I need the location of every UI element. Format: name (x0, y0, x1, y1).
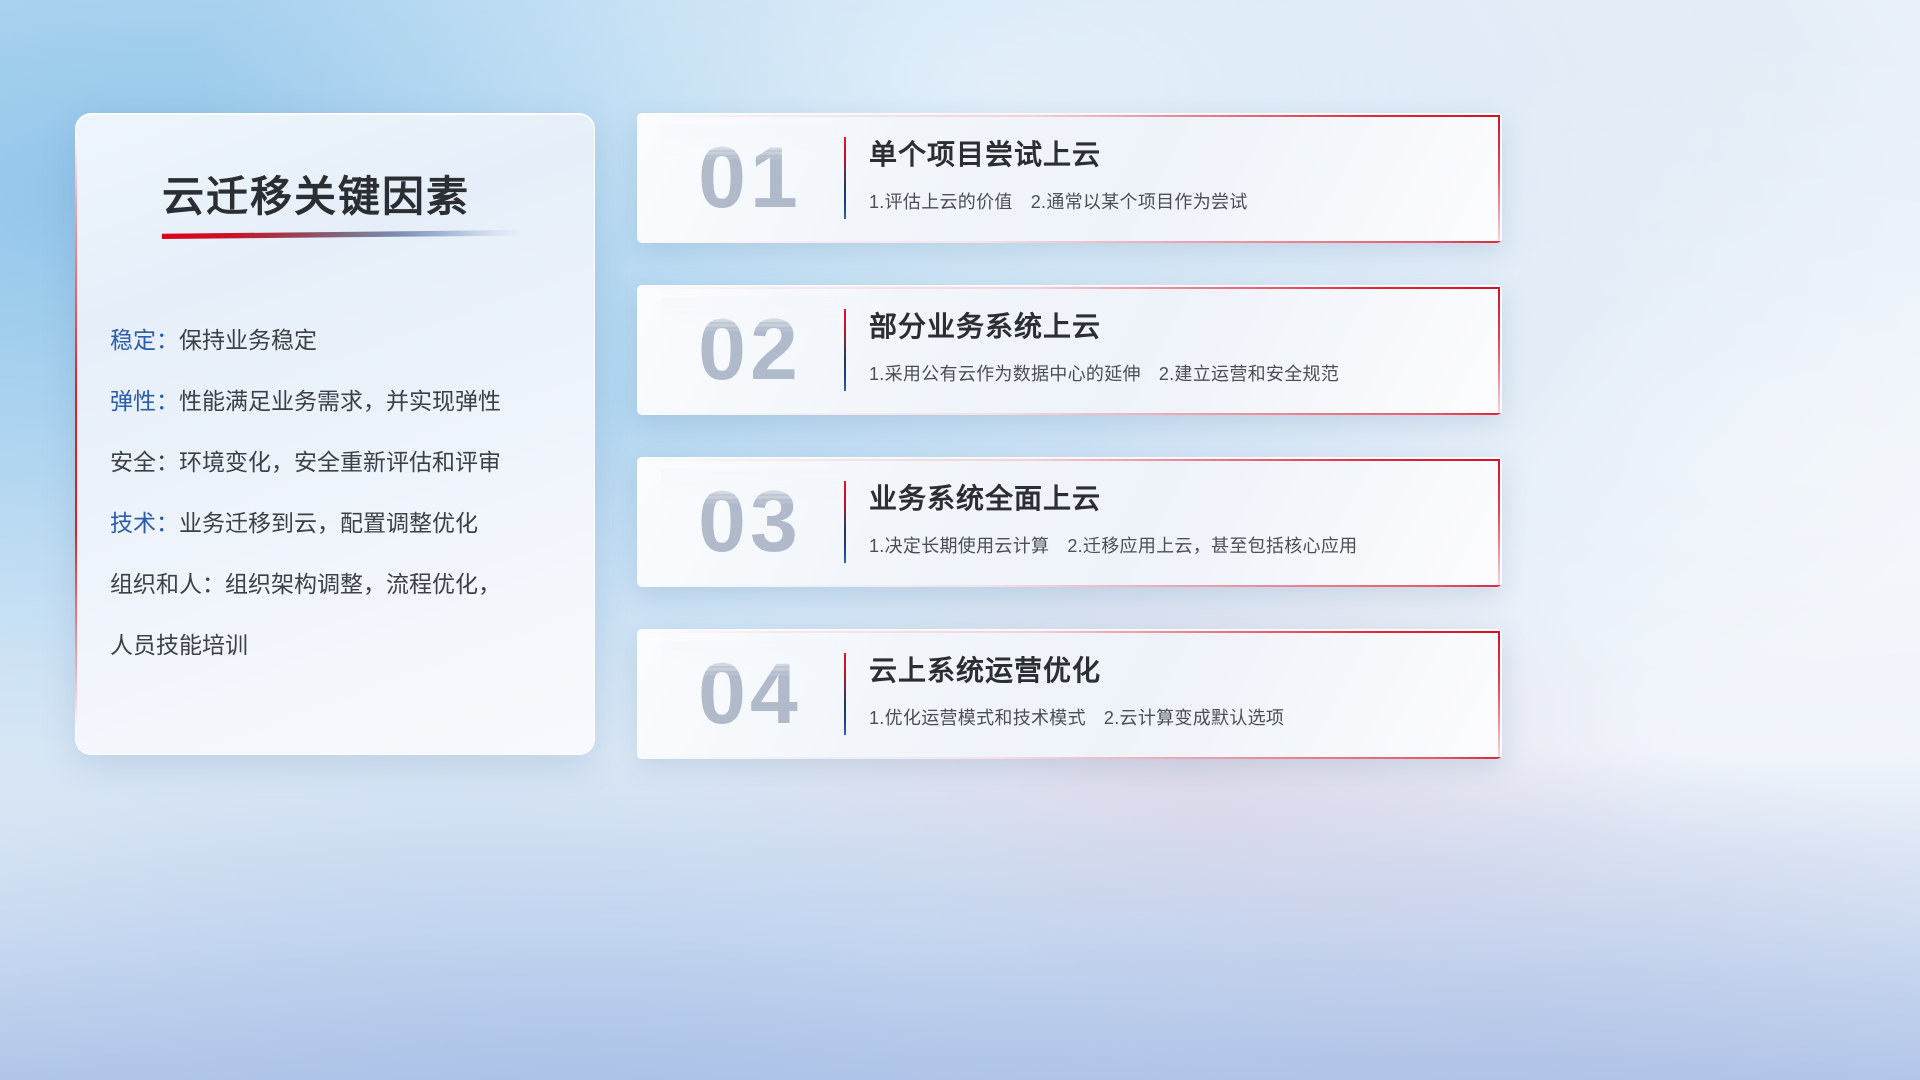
stage-card[interactable]: 03 业务系统全面上云 1.决定长期使用云计算2.迁移应用上云，甚至包括核心应用 (637, 457, 1502, 587)
stage-desc-item: 2.建立运营和安全规范 (1159, 364, 1339, 384)
title-underline-rule (162, 230, 522, 239)
stage-divider-bar (844, 137, 846, 219)
factor-value: 环境变化，安全重新评估和评审 (179, 449, 501, 475)
stage-title: 业务系统全面上云 (869, 477, 1101, 517)
stage-desc-item: 2.通常以某个项目作为尝试 (1031, 192, 1248, 212)
stage-number: 02 (661, 297, 839, 403)
factor-value: 保持业务稳定 (179, 327, 317, 353)
stage-desc-item: 1.评估上云的价值 (869, 192, 1013, 212)
stage-number: 01 (661, 125, 839, 231)
key-factors-list: 稳定：保持业务稳定 弹性：性能满足业务需求，并实现弹性 安全：环境变化，安全重新… (110, 310, 570, 676)
factor-key: 技术： (110, 510, 179, 536)
stage-card[interactable]: 01 单个项目尝试上云 1.评估上云的价值2.通常以某个项目作为尝试 (637, 113, 1502, 243)
stage-desc-item: 2.迁移应用上云，甚至包括核心应用 (1067, 536, 1357, 556)
list-item: 安全：环境变化，安全重新评估和评审 (110, 432, 570, 493)
stage-title: 单个项目尝试上云 (869, 133, 1101, 173)
stage-desc-item: 1.采用公有云作为数据中心的延伸 (869, 364, 1141, 384)
stage-title: 云上系统运营优化 (869, 649, 1101, 689)
slide-canvas: 云迁移关键因素 稳定：保持业务稳定 弹性：性能满足业务需求，并实现弹性 安全：环… (0, 0, 1920, 1080)
factor-value: 性能满足业务需求，并实现弹性 (179, 388, 501, 414)
factor-value: 组织架构调整，流程优化， (225, 571, 501, 597)
page-title: 云迁移关键因素 (162, 163, 470, 224)
stage-description: 1.决定长期使用云计算2.迁移应用上云，甚至包括核心应用 (869, 532, 1357, 558)
stage-description: 1.采用公有云作为数据中心的延伸2.建立运营和安全规范 (869, 360, 1339, 386)
stage-divider-bar (844, 309, 846, 391)
stage-number: 04 (661, 641, 839, 747)
stage-desc-item: 2.云计算变成默认选项 (1104, 708, 1284, 728)
list-item: 人员技能培训 (110, 615, 570, 676)
list-item: 技术：业务迁移到云，配置调整优化 (110, 493, 570, 554)
factor-key: 安全： (110, 449, 179, 475)
stage-card[interactable]: 04 云上系统运营优化 1.优化运营模式和技术模式2.云计算变成默认选项 (637, 629, 1502, 759)
stage-card[interactable]: 02 部分业务系统上云 1.采用公有云作为数据中心的延伸2.建立运营和安全规范 (637, 285, 1502, 415)
stage-description: 1.优化运营模式和技术模式2.云计算变成默认选项 (869, 704, 1284, 730)
list-item: 弹性：性能满足业务需求，并实现弹性 (110, 371, 570, 432)
stage-desc-item: 1.优化运营模式和技术模式 (869, 708, 1086, 728)
stage-number: 03 (661, 469, 839, 575)
migration-stage-cards: 01 单个项目尝试上云 1.评估上云的价值2.通常以某个项目作为尝试 02 部分… (637, 113, 1502, 801)
stage-divider-bar (844, 481, 846, 563)
factor-value: 人员技能培训 (110, 632, 248, 658)
stage-description: 1.评估上云的价值2.通常以某个项目作为尝试 (869, 188, 1248, 214)
stage-desc-item: 1.决定长期使用云计算 (869, 536, 1049, 556)
factor-value: 业务迁移到云，配置调整优化 (179, 510, 478, 536)
list-item: 组织和人：组织架构调整，流程优化， (110, 554, 570, 615)
factor-key: 稳定： (110, 327, 179, 353)
stage-title: 部分业务系统上云 (869, 305, 1101, 345)
factor-key: 组织和人： (110, 571, 225, 597)
list-item: 稳定：保持业务稳定 (110, 310, 570, 371)
key-factors-panel: 云迁移关键因素 稳定：保持业务稳定 弹性：性能满足业务需求，并实现弹性 安全：环… (75, 113, 595, 755)
factor-key: 弹性： (110, 388, 179, 414)
stage-divider-bar (844, 653, 846, 735)
